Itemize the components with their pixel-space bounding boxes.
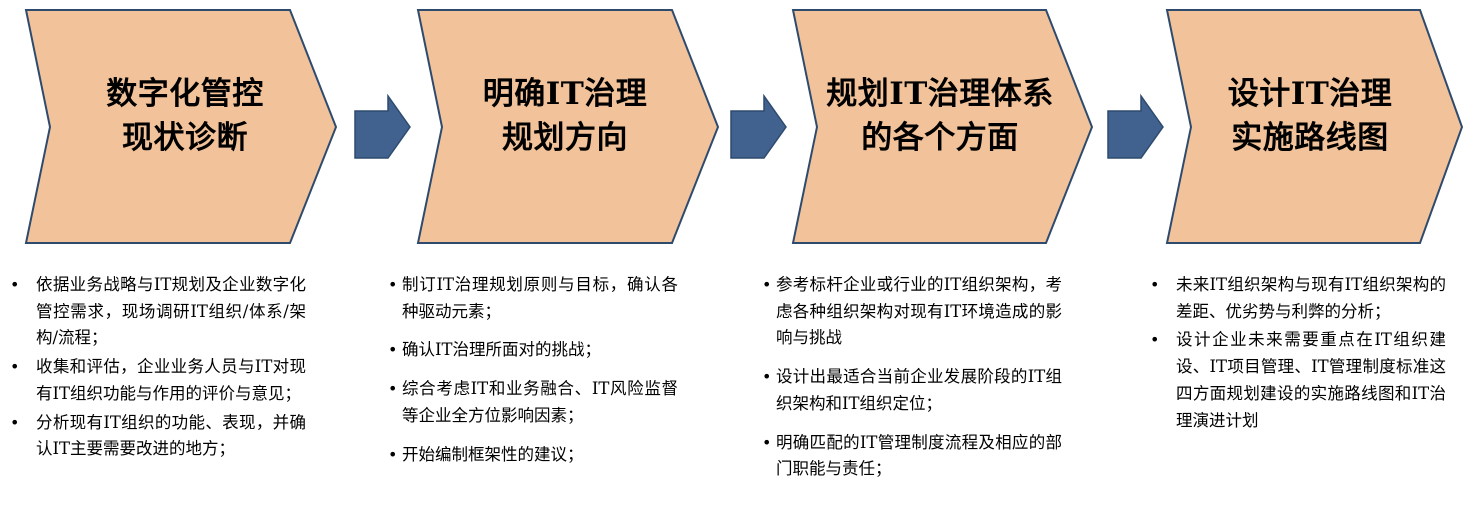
bullet-glyph: • — [10, 410, 19, 436]
right-arrow-icon-1 — [355, 96, 410, 158]
bullet-text: 综合考虑IT和业务融合、IT风险监督等企业全方位影响因素； — [402, 376, 678, 429]
list-item: • 参考标杆企业或行业的IT组织架构，考虑各种组织架构对现有IT环境造成的影响与… — [762, 272, 1062, 352]
bullet-glyph: • — [388, 272, 397, 298]
bullet-list-2: • 制订IT治理规划原则与目标，确认各种驱动元素； • 确认IT治理所面对的挑战… — [388, 272, 678, 468]
bullet-text: 收集和评估，企业业务人员与IT对现有IT组织功能与作用的评价与意见； — [36, 354, 306, 407]
bullet-text: 依据业务战略与IT规划及企业数字化管控需求，现场调研IT组织/体系/架构/流程； — [36, 272, 306, 352]
chevron-shape-stage-2[interactable] — [418, 10, 718, 243]
bullet-text: 未来IT组织架构与现有IT组织架构的差距、优劣势与利弊的分析； — [1176, 272, 1446, 325]
stage-details-4: • 未来IT组织架构与现有IT组织架构的差距、优劣势与利弊的分析； • 设计企业… — [1146, 272, 1446, 524]
stage-details-2: • 制订IT治理规划原则与目标，确认各种驱动元素； • 确认IT治理所面对的挑战… — [388, 272, 678, 524]
bullet-text: 分析现有IT组织的功能、表现，并确认IT主要需要改进的地方； — [36, 410, 306, 463]
list-item: • 明确匹配的IT管理制度流程及相应的部门职能与责任； — [762, 430, 1062, 483]
list-item: • 收集和评估，企业业务人员与IT对现有IT组织功能与作用的评价与意见； — [6, 354, 306, 407]
right-arrow-icon-3 — [1108, 96, 1163, 158]
process-diagram: 数字化管控 现状诊断 明确IT治理 规划方向 规划IT治理体系 的各个方面 设计… — [0, 0, 1464, 524]
list-item: • 综合考虑IT和业务融合、IT风险监督等企业全方位影响因素； — [388, 376, 678, 429]
bullet-text: 制订IT治理规划原则与目标，确认各种驱动元素； — [402, 272, 678, 325]
list-item: • 设计企业未来需要重点在IT组织建设、IT项目管理、IT管理制度标准这四方面规… — [1146, 327, 1446, 434]
bullet-text: 开始编制框架性的建议； — [402, 442, 678, 469]
bullet-text: 设计企业未来需要重点在IT组织建设、IT项目管理、IT管理制度标准这四方面规划建… — [1176, 327, 1446, 434]
bullet-text: 设计出最适合当前企业发展阶段的IT组织架构和IT组织定位； — [776, 364, 1062, 417]
list-item: • 依据业务战略与IT规划及企业数字化管控需求，现场调研IT组织/体系/架构/流… — [6, 272, 306, 352]
bullet-glyph: • — [10, 354, 19, 380]
stage-details-1: • 依据业务战略与IT规划及企业数字化管控需求，现场调研IT组织/体系/架构/流… — [6, 272, 306, 524]
bullet-glyph: • — [1150, 327, 1159, 353]
bullet-glyph: • — [762, 364, 771, 390]
bullet-glyph: • — [762, 272, 771, 298]
list-item: • 确认IT治理所面对的挑战； — [388, 337, 678, 364]
bullet-glyph: • — [388, 442, 397, 468]
process-stage-band: 数字化管控 现状诊断 明确IT治理 规划方向 规划IT治理体系 的各个方面 设计… — [0, 0, 1464, 256]
chevron-shape-stage-4[interactable] — [1167, 10, 1462, 243]
bullet-glyph: • — [762, 430, 771, 456]
right-arrow-icon-2 — [731, 96, 786, 158]
chevron-shape-stage-3[interactable] — [793, 10, 1092, 243]
bullet-text: 参考标杆企业或行业的IT组织架构，考虑各种组织架构对现有IT环境造成的影响与挑战 — [776, 272, 1062, 352]
bullet-glyph: • — [388, 376, 397, 402]
bullet-list-4: • 未来IT组织架构与现有IT组织架构的差距、优劣势与利弊的分析； • 设计企业… — [1146, 272, 1446, 434]
bullet-text: 确认IT治理所面对的挑战； — [402, 337, 678, 364]
bullet-glyph: • — [10, 272, 19, 298]
bullet-list-1: • 依据业务战略与IT规划及企业数字化管控需求，现场调研IT组织/体系/架构/流… — [6, 272, 306, 463]
chevron-arrow-graphics — [0, 0, 1464, 256]
bullet-list-3: • 参考标杆企业或行业的IT组织架构，考虑各种组织架构对现有IT环境造成的影响与… — [762, 272, 1062, 483]
list-item: • 设计出最适合当前企业发展阶段的IT组织架构和IT组织定位； — [762, 364, 1062, 417]
bullet-glyph: • — [388, 337, 397, 363]
stage-details-3: • 参考标杆企业或行业的IT组织架构，考虑各种组织架构对现有IT环境造成的影响与… — [762, 272, 1062, 524]
chevron-shape-stage-1[interactable] — [26, 10, 336, 243]
list-item: • 开始编制框架性的建议； — [388, 442, 678, 469]
bullet-glyph: • — [1150, 272, 1159, 298]
list-item: • 未来IT组织架构与现有IT组织架构的差距、优劣势与利弊的分析； — [1146, 272, 1446, 325]
list-item: • 制订IT治理规划原则与目标，确认各种驱动元素； — [388, 272, 678, 325]
list-item: • 分析现有IT组织的功能、表现，并确认IT主要需要改进的地方； — [6, 410, 306, 463]
bullet-text: 明确匹配的IT管理制度流程及相应的部门职能与责任； — [776, 430, 1062, 483]
